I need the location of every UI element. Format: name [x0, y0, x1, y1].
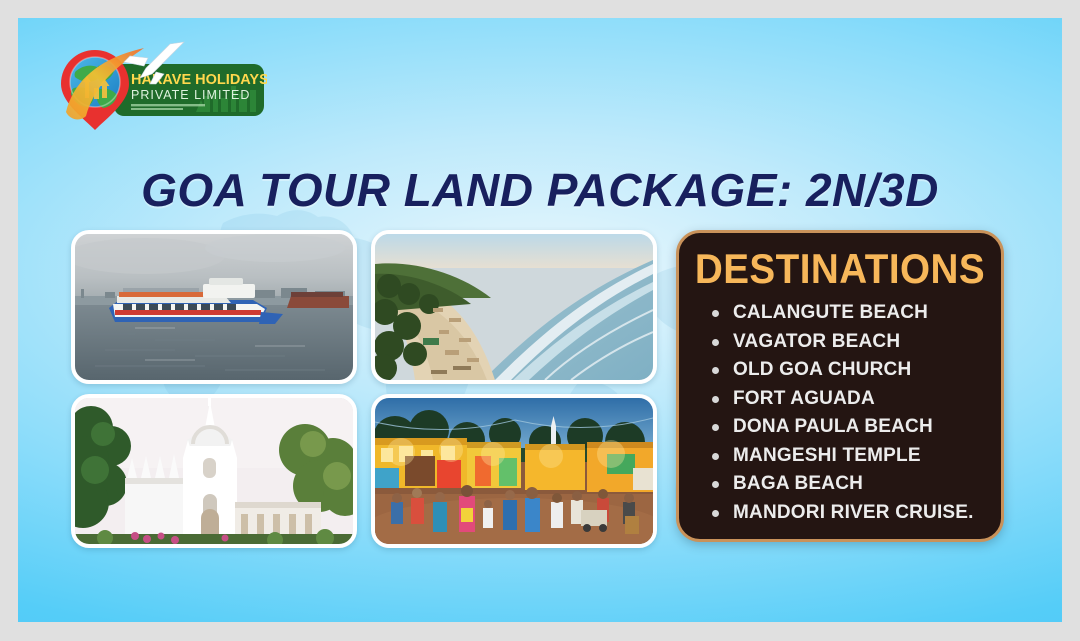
destination-item: OLD GOA CHURCH	[709, 356, 1001, 385]
gallery-photo-church[interactable]	[71, 394, 357, 548]
brand-logo[interactable]: HARAVE HOLIDAYS PRIVATE LIMITED	[52, 40, 267, 132]
gallery-photo-river-cruise[interactable]	[71, 230, 357, 384]
destination-item: MANGESHI TEMPLE	[709, 442, 1001, 471]
poster-canvas: HARAVE HOLIDAYS PRIVATE LIMITED	[18, 18, 1062, 622]
destinations-title: DESTINATIONS	[692, 245, 988, 293]
destinations-list: CALANGUTE BEACH VAGATOR BEACH OLD GOA CH…	[679, 299, 1001, 527]
destination-item: BAGA BEACH	[709, 470, 1001, 499]
gallery-photo-night-market[interactable]	[371, 394, 657, 548]
gallery-photo-beach-coastline[interactable]	[371, 230, 657, 384]
page-title: GOA TOUR LAND PACKAGE: 2N/3D	[18, 162, 1062, 218]
destinations-panel: DESTINATIONS CALANGUTE BEACH VAGATOR BEA…	[676, 230, 1004, 542]
destination-item: VAGATOR BEACH	[709, 328, 1001, 357]
destination-item: CALANGUTE BEACH	[709, 299, 1001, 328]
destination-item: MANDORI RIVER CRUISE.	[709, 499, 1001, 528]
destination-item: FORT AGUADA	[709, 385, 1001, 414]
brand-name-line2: PRIVATE LIMITED	[131, 88, 250, 102]
destination-item: DONA PAULA BEACH	[709, 413, 1001, 442]
